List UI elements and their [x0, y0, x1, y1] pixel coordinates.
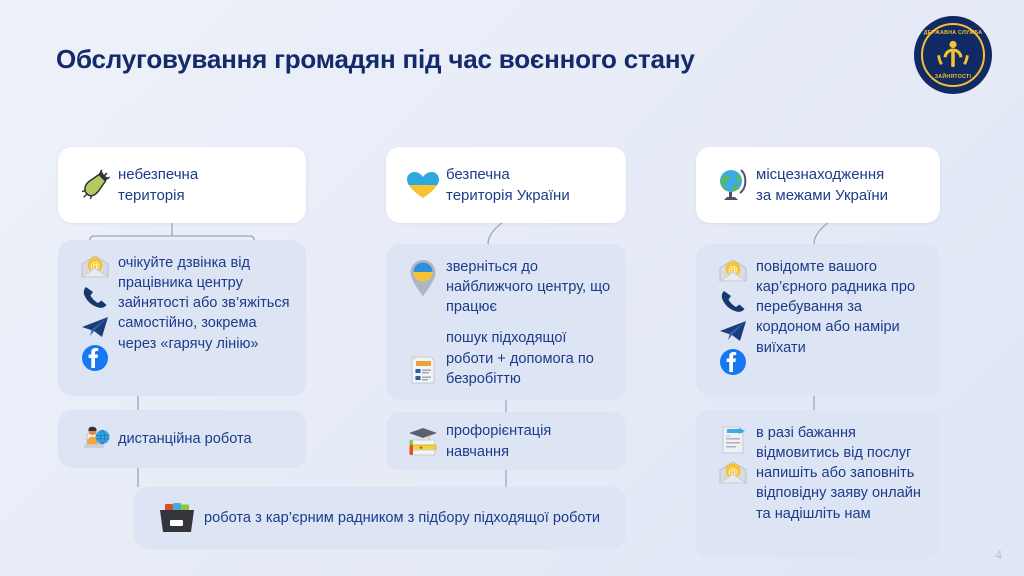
facebook-icon	[81, 344, 109, 372]
icon-group	[400, 424, 446, 458]
map-pin-ukraine-icon	[407, 258, 439, 298]
globe-icon	[716, 167, 750, 203]
email-icon: @	[718, 460, 748, 486]
document-icon	[717, 424, 749, 456]
icon-group	[72, 424, 118, 454]
telegram-icon	[80, 314, 110, 340]
phone-icon	[81, 284, 109, 310]
card-text: профорієнтація навчання	[446, 420, 612, 461]
icon-group	[148, 501, 204, 535]
icon-group	[72, 168, 118, 202]
card-career-guidance: профорієнтація навчання	[386, 412, 626, 470]
bomb-icon	[78, 168, 112, 202]
ukraine-heart-icon	[405, 169, 441, 201]
header-card-dangerous: небезпечна територія	[58, 147, 306, 223]
icon-group	[400, 256, 446, 386]
telegram-icon	[718, 318, 748, 344]
header-card-abroad: місцезнаходження за межами України	[696, 147, 940, 223]
icon-group: @	[72, 252, 118, 372]
card-nearest-center: зверніться до найближчого центру, що пра…	[386, 244, 626, 400]
card-text: дистанційна робота	[118, 428, 252, 449]
header-card-text: небезпечна територія	[118, 164, 198, 206]
graduation-books-icon	[405, 424, 441, 458]
card-text: очікуйте дзвінка від працівника центру з…	[118, 252, 292, 354]
laptop-globe-icon	[78, 424, 112, 454]
icon-group: @	[710, 256, 756, 376]
icon-group	[710, 167, 756, 203]
card-refuse-services: @ в разі бажання відмовитись від послуг …	[696, 410, 940, 558]
header-card-text: місцезнаходження за межами України	[756, 164, 888, 206]
card-notify-advisor: @ пові	[696, 244, 940, 396]
job-listing-icon	[407, 352, 439, 386]
email-icon: @	[80, 254, 110, 280]
facebook-icon	[719, 348, 747, 376]
card-file-box-icon	[156, 501, 196, 535]
card-text: в разі бажання відмовитись від послуг на…	[756, 422, 926, 524]
card-remote-work: дистанційна робота	[58, 410, 306, 468]
phone-icon	[719, 288, 747, 314]
diagram-board: небезпечна територія @	[0, 0, 1024, 576]
header-card-text: безпечна територія України	[446, 164, 570, 206]
card-career-advisor-work: робота з кар’єрним радником з підбору пі…	[134, 487, 626, 549]
card-contact-center: @ очік	[58, 240, 306, 396]
icon-group	[400, 169, 446, 201]
header-card-safe: безпечна територія України	[386, 147, 626, 223]
card-text: робота з кар’єрним радником з підбору пі…	[204, 507, 600, 528]
icon-group: @	[710, 422, 756, 486]
card-text: повідомте вашого кар’єрного радника про …	[756, 256, 926, 358]
email-icon: @	[718, 258, 748, 284]
card-text: зверніться до найближчого центру, що пра…	[446, 256, 612, 389]
